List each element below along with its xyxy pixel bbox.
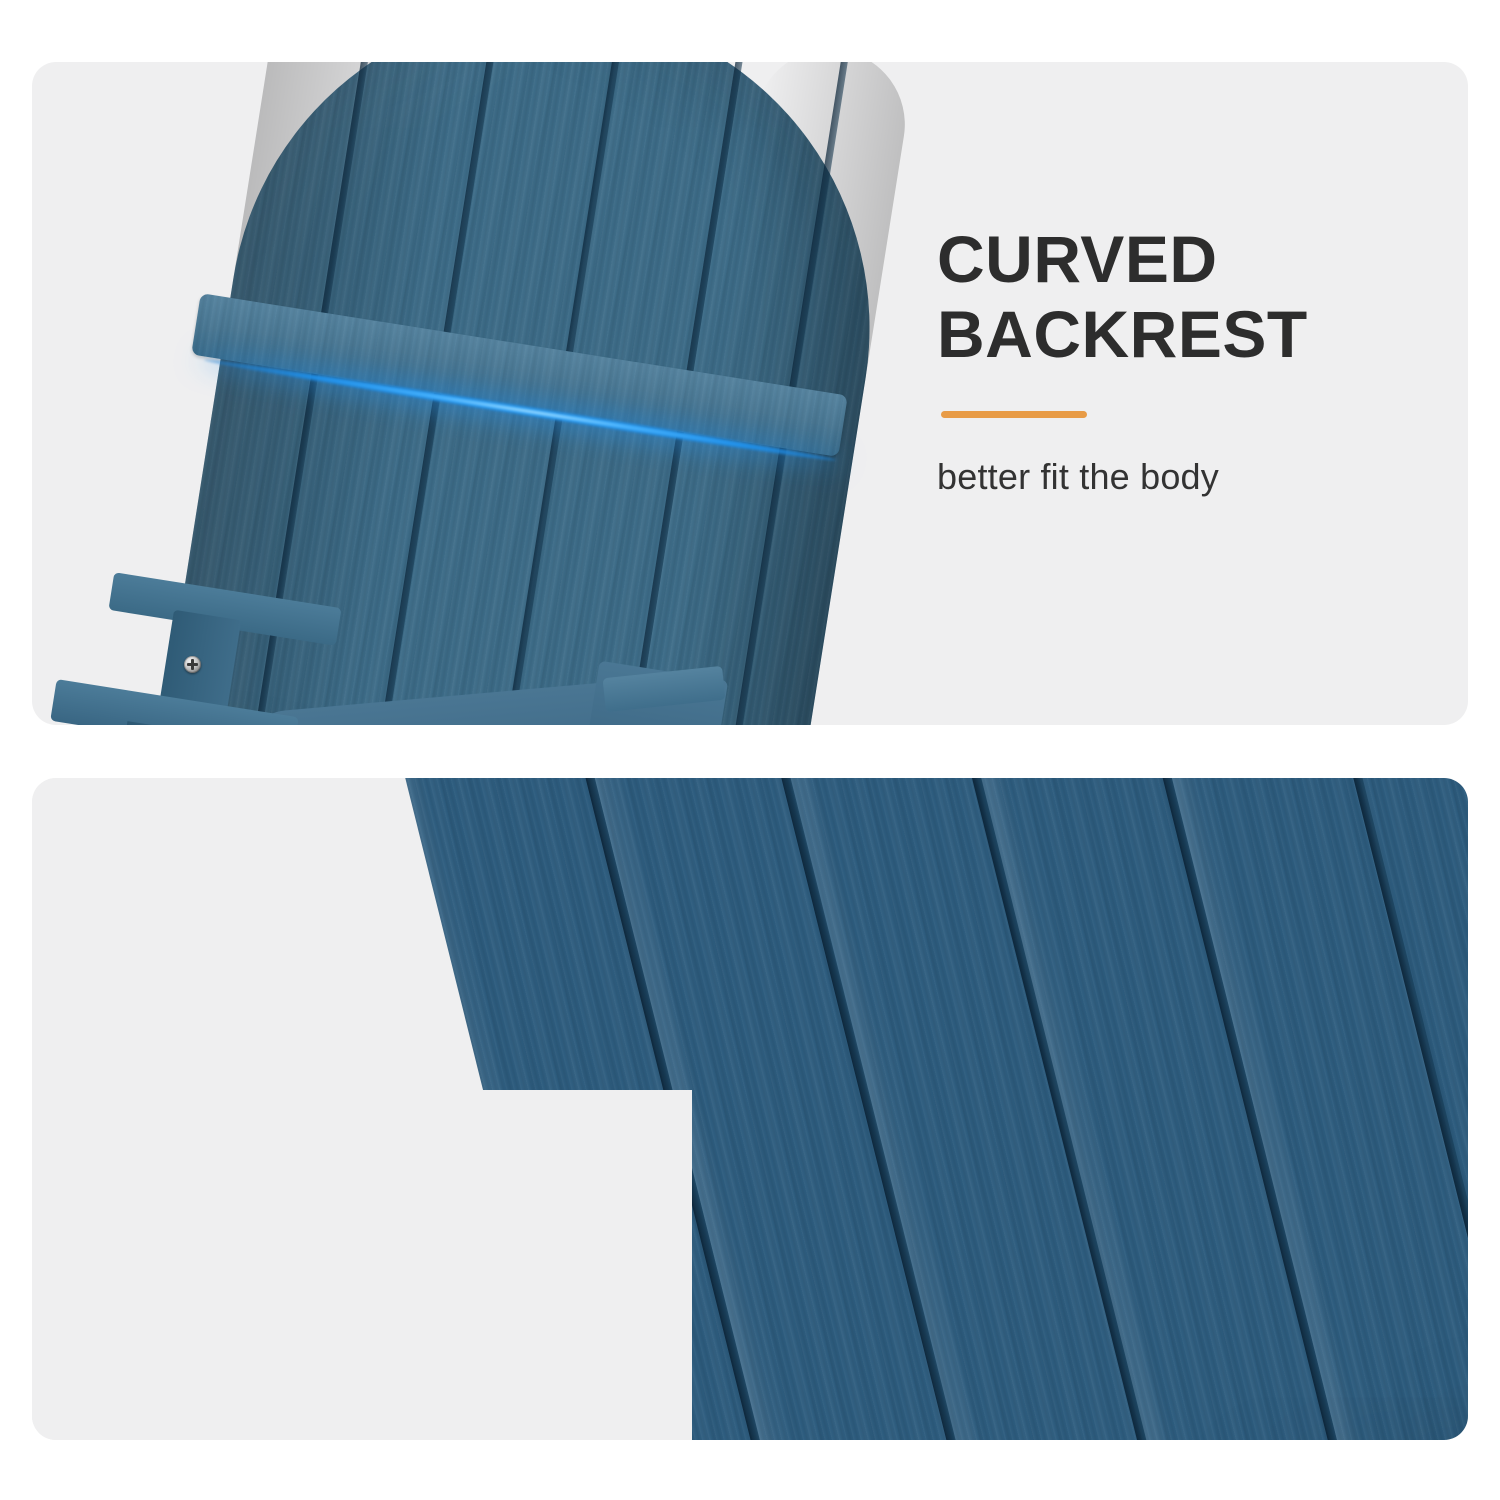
screw-icon <box>184 656 201 673</box>
background-mask <box>32 1090 692 1440</box>
accent-divider <box>941 411 1087 418</box>
feature-panel-curved-backrest: CURVED BACKREST better fit the body <box>32 62 1468 725</box>
feature-text-block-curved-backrest: CURVED BACKREST better fit the body <box>937 222 1407 498</box>
feature-heading: CURVED BACKREST <box>937 222 1407 371</box>
product-feature-page: CURVED BACKREST better fit the body <box>0 0 1500 1500</box>
feature-panel-wide-armrests: WIDE ARMRESTS for better arm relaxation <box>32 778 1468 1440</box>
chair-armrest-illustration <box>32 778 1468 1440</box>
feature-subheading: better fit the body <box>937 456 1407 498</box>
